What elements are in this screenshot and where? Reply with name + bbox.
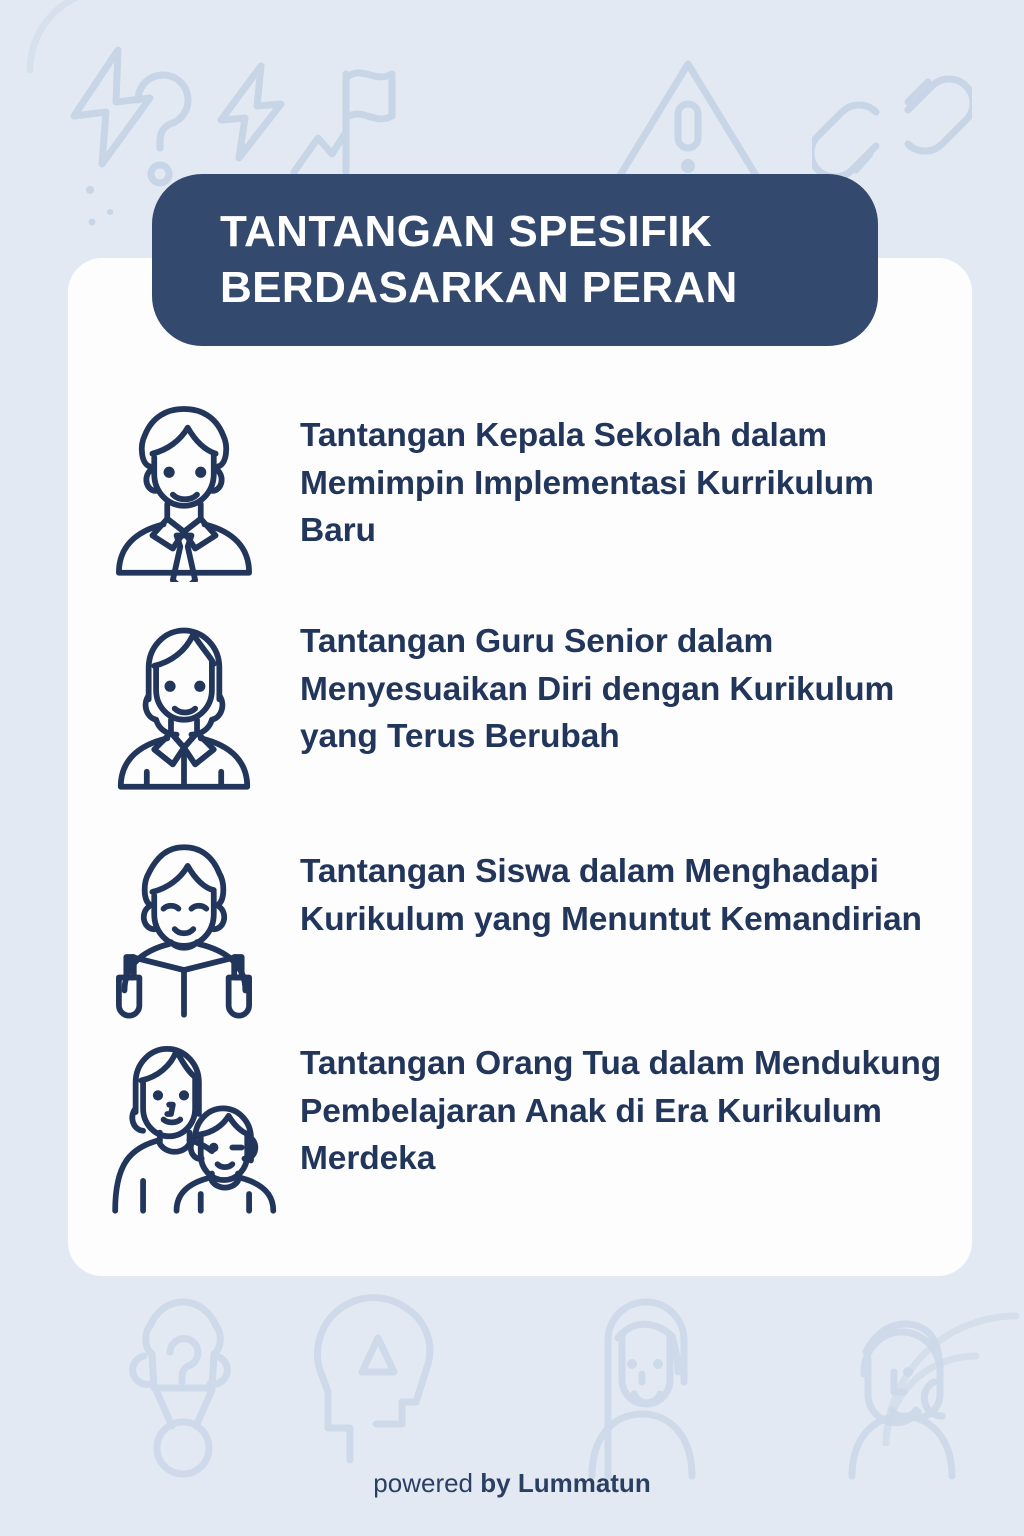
head-with-question-mark-icon bbox=[108, 1292, 258, 1492]
list-item-text: Tantangan Guru Senior dalam Menyesuaikan… bbox=[300, 606, 972, 761]
footer: powered by Lummatun bbox=[0, 1468, 1024, 1499]
principal-man-tie-icon bbox=[91, 396, 277, 582]
list-item-icon-wrap bbox=[68, 834, 300, 1024]
footer-powered-label: powered bbox=[373, 1468, 480, 1498]
challenge-list: Tantangan Kepala Sekolah dalam Memimpin … bbox=[68, 392, 972, 1226]
corner-arc-top-left-icon bbox=[0, 0, 120, 130]
flag-on-mountain-icon bbox=[288, 54, 418, 184]
spark-dots-icon bbox=[78, 178, 138, 238]
list-item-icon-wrap bbox=[68, 606, 300, 796]
list-item-text: Tantangan Orang Tua dalam Mendukung Pemb… bbox=[300, 1030, 972, 1183]
list-item[interactable]: Tantangan Orang Tua dalam Mendukung Pemb… bbox=[68, 1030, 972, 1226]
person-woman-long-hair-icon bbox=[562, 1294, 722, 1484]
list-item-icon-wrap bbox=[68, 1030, 300, 1220]
list-item-text: Tantangan Siswa dalam Menghadapi Kurikul… bbox=[300, 834, 972, 943]
list-item[interactable]: Tantangan Guru Senior dalam Menyesuaikan… bbox=[68, 606, 972, 834]
title-banner: TANTANGAN SPESIFIK BERDASARKAN PERAN bbox=[152, 174, 878, 346]
footer-brand-label: by Lummatun bbox=[480, 1468, 650, 1498]
list-item-icon-wrap bbox=[68, 392, 300, 582]
person-woman-bun-icon bbox=[826, 1294, 976, 1484]
parent-and-child-icon bbox=[91, 1034, 277, 1220]
warning-triangle-icon bbox=[608, 56, 768, 188]
student-reading-book-icon bbox=[91, 838, 277, 1024]
lightning-bolt-small-icon bbox=[205, 60, 297, 165]
page-title: TANTANGAN SPESIFIK BERDASARKAN PERAN bbox=[152, 204, 766, 317]
list-item-text: Tantangan Kepala Sekolah dalam Memimpin … bbox=[300, 392, 972, 555]
lightning-bolt-icon bbox=[58, 42, 178, 172]
senior-teacher-woman-icon bbox=[91, 610, 277, 796]
list-item[interactable]: Tantangan Kepala Sekolah dalam Memimpin … bbox=[68, 392, 972, 606]
question-mark-icon bbox=[118, 62, 208, 192]
list-item[interactable]: Tantangan Siswa dalam Menghadapi Kurikul… bbox=[68, 834, 972, 1030]
corner-arc-decoration-icon bbox=[876, 1286, 1024, 1446]
head-profile-triangle-icon bbox=[302, 1294, 452, 1474]
